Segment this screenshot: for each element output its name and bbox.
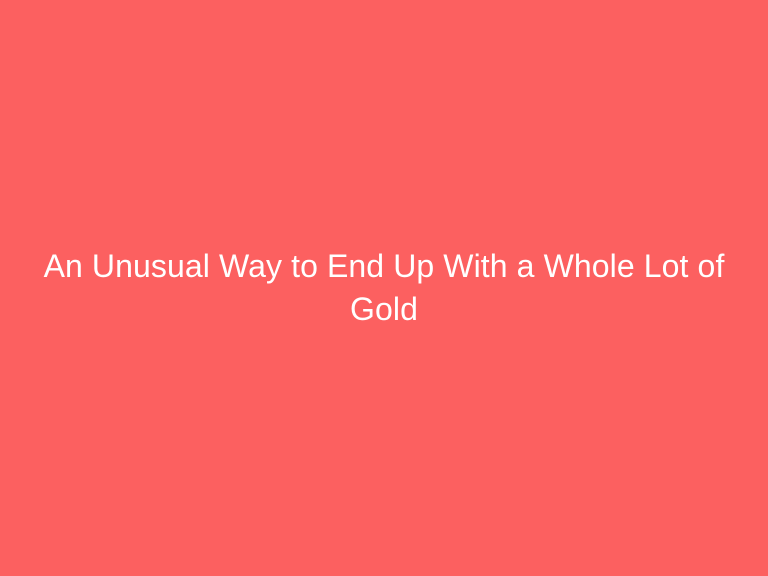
hero-content: An Unusual Way to End Up With a Whole Lo… — [34, 245, 734, 331]
hero-card: An Unusual Way to End Up With a Whole Lo… — [0, 0, 768, 576]
page-title: An Unusual Way to End Up With a Whole Lo… — [34, 245, 734, 331]
